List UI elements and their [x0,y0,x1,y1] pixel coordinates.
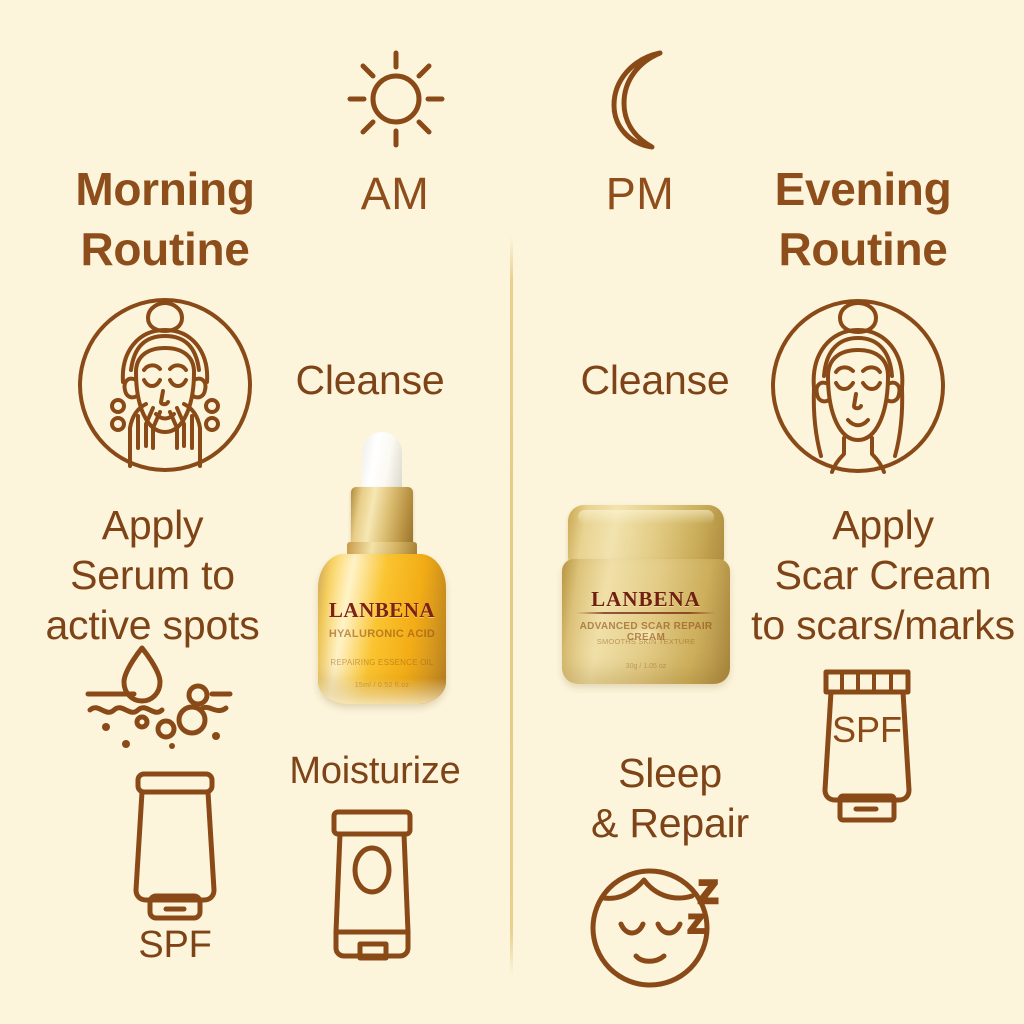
step-label-spf-am: SPF [80,922,270,970]
face-massage-icon [76,296,254,474]
am-label: AM [330,168,460,220]
spf-tube-text: SPF [832,709,902,750]
serum-body: LANBENA HYALURONIC ACID REPAIRING ESSENC… [318,554,446,704]
jar-base: LANBENA ADVANCED SCAR REPAIR CREAM SMOOT… [562,559,730,684]
serum-absorb-icon [84,640,230,758]
moon-icon [590,45,690,155]
jar-rule [576,612,716,614]
calm-face-icon [768,296,948,476]
serum-line1: HYALURONIC ACID [318,628,446,642]
step-label-apply-scar-cream: Apply Scar Cream to scars/marks [738,500,1024,650]
spf-tube-icon [124,770,228,922]
jar-line3: SMOOTHS SKIN TEXTURE [562,637,730,648]
serum-line3: REPAIRING ESSENCE OIL [318,658,446,669]
sun-icon [342,45,450,153]
jar-brand-text: LANBENA [562,587,730,612]
serum-volume: 15ml / 0.52 fl.oz [318,682,446,689]
column-divider [510,236,513,976]
sleeping-face-icon: Z Z [588,860,748,1000]
page-title-evening: Evening Routine [718,160,1008,280]
scar-cream-jar-product: LANBENA ADVANCED SCAR REPAIR CREAM SMOOT… [562,505,730,690]
serum-brand-text: LANBENA [318,598,446,623]
serum-cap [351,487,413,547]
spf-tube-icon: SPF [814,668,920,824]
jar-volume: 30g / 1.05 oz [562,663,730,670]
infographic-canvas: Morning Routine AM PM Evening Routine [0,0,1024,1024]
step-label-cleanse-am: Cleanse [250,355,490,405]
serum-bottle-product: LANBENA HYALURONIC ACID REPAIRING ESSENC… [312,432,452,704]
z-large-icon: Z [699,876,717,909]
page-title-morning: Morning Routine [20,160,310,280]
step-label-moisturize: Moisturize [250,748,500,796]
step-label-sleep-repair: Sleep & Repair [555,748,785,848]
pm-label: PM [575,168,705,220]
moisturizer-tube-icon [322,808,424,960]
step-label-cleanse-pm: Cleanse [535,355,775,405]
z-small-icon: Z [689,911,704,938]
jar-lid [568,505,724,567]
step-label-apply-serum: Apply Serum to active spots [10,500,295,650]
